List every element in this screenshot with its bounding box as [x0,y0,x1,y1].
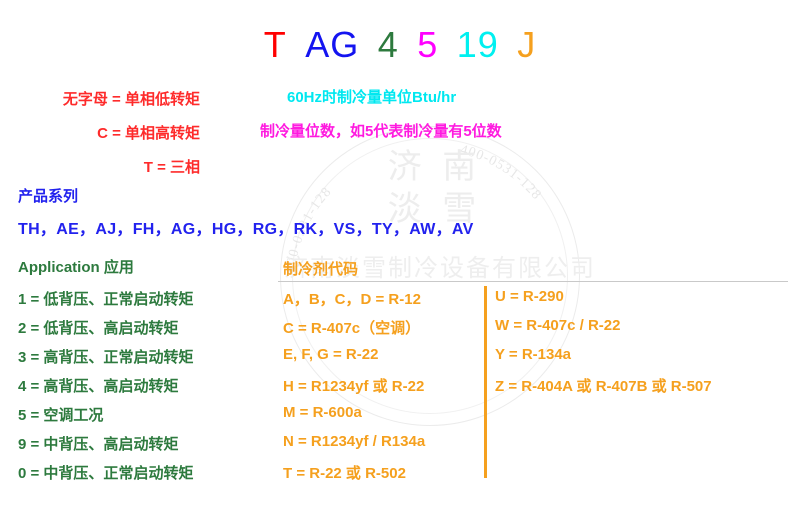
application-heading: Application 应用 [18,256,134,277]
refrigerant-left-row-1: A，B，C，D = R-12 [283,288,421,309]
phase-line-no-letter: 无字母 = 单相低转矩 [0,88,200,109]
refrigerant-left-row-7: T = R-22 或 R-502 [283,462,406,483]
refrigerant-left-row-6: N = R1234yf / R134a [283,433,425,450]
series-heading: 产品系列 [18,185,78,206]
watermark-center-top: 济 南 [350,148,520,188]
model-char-19: 19 [457,24,499,65]
refrigerant-right-row-4: Z = R-404A 或 R-407B 或 R-507 [495,375,712,396]
refrigerant-left-row-4: H = R1234yf 或 R-22 [283,375,424,396]
phase-line-c: C = 单相高转矩 [0,122,200,143]
application-row-9: 9 = 中背压、高启动转矩 [18,433,178,454]
application-row-4: 4 = 高背压、高启动转矩 [18,375,178,396]
phase-line-t: T = 三相 [0,156,200,177]
model-char-4: 4 [378,24,399,65]
application-row-1: 1 = 低背压、正常启动转矩 [18,288,193,309]
model-code-title: T AG 4 5 19 J [0,24,800,66]
refrigerant-left-row-5: M = R-600a [283,404,362,421]
application-row-3: 3 = 高背压、正常启动转矩 [18,346,193,367]
watermark-arc-right: 400-0531-128 [459,143,545,204]
capacity-frequency-note: 60Hz时制冷量单位Btu/hr [287,86,456,107]
refrigerant-left-row-2: C = R-407c（空调） [283,317,420,338]
refrigerant-right-row-2: W = R-407c / R-22 [495,317,620,334]
model-char-j: J [517,24,536,65]
refrigerant-column-divider [484,286,487,478]
model-char-ag: AG [305,24,359,65]
refrigerant-right-row-3: Y = R-134a [495,346,571,363]
refrigerant-right-row-1: U = R-290 [495,288,564,305]
refrigerant-heading: 制冷剂代码 [283,258,358,279]
application-row-0: 0 = 中背压、正常启动转矩 [18,462,193,483]
refrigerant-heading-underline [278,281,788,282]
model-char-5: 5 [417,24,438,65]
application-row-2: 2 = 低背压、高启动转矩 [18,317,178,338]
capacity-digits-note: 制冷量位数，如5代表制冷量有5位数 [260,120,502,141]
refrigerant-left-row-3: E, F, G = R-22 [283,346,378,363]
application-row-5: 5 = 空调工况 [18,404,103,425]
model-char-t: T [264,24,287,65]
series-list: TH，AE，AJ，FH，AG，HG，RG，RK，VS，TY，AW，AV [18,215,474,239]
diagram-canvas: 400-0531-128 400-0531-128 济 南 淡 雪 济南淡雪制冷… [0,0,800,515]
